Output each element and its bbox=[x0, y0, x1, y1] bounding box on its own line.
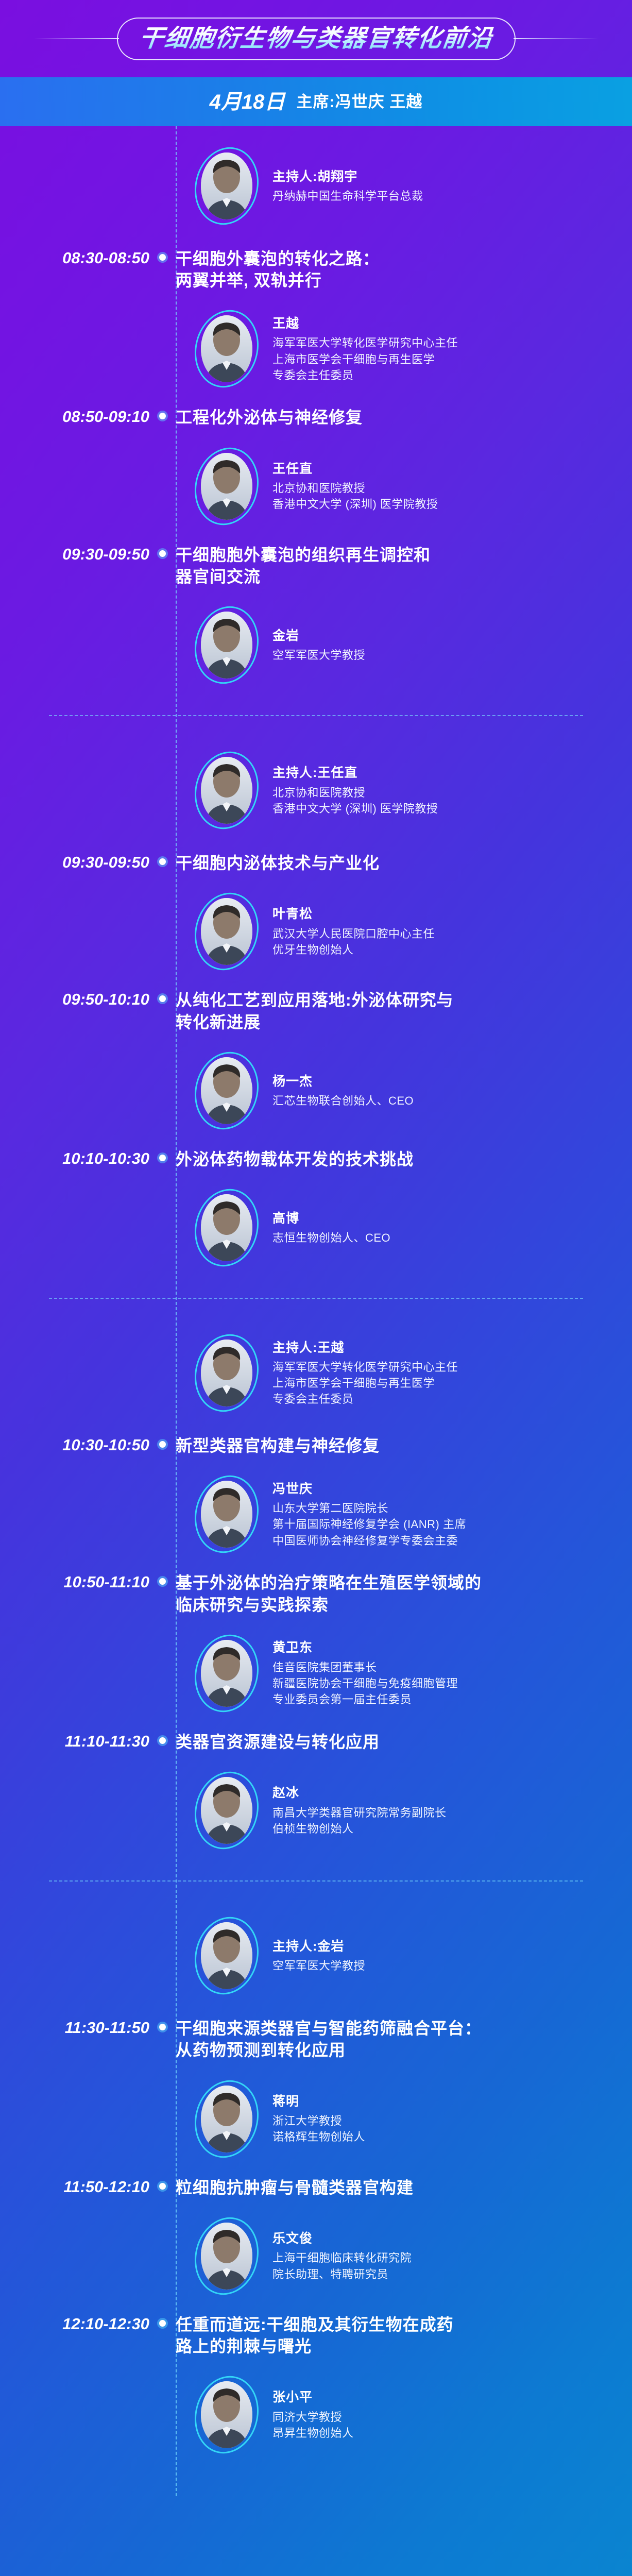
avatar bbox=[195, 1771, 258, 1850]
avatar bbox=[195, 147, 258, 225]
timeline-bullet-col bbox=[149, 1572, 176, 1585]
person-info: 主持人:王任直北京协和医院教授香港中文大学 (深圳) 医学院教授 bbox=[272, 764, 438, 817]
person-info: 主持人:王越海军军医大学转化医学研究中心主任上海市医学会干细胞与再生医学专委会主… bbox=[272, 1339, 458, 1408]
person-silhouette-icon bbox=[201, 1481, 252, 1548]
talk-title-line: 两翼并举, 双轨并行 bbox=[176, 269, 611, 291]
talk-title-line: 路上的荆棘与曙光 bbox=[176, 2335, 611, 2357]
talk-row: 09:50-10:10从纯化工艺到应用落地:外泌体研究与转化新进展 bbox=[0, 982, 632, 1040]
speaker-title: 佳音医院集团董事长 bbox=[272, 1659, 458, 1675]
speaker-name: 张小平 bbox=[272, 2388, 354, 2407]
talk-row: 10:30-10:50新型类器官构建与神经修复 bbox=[0, 1428, 632, 1464]
avatar-photo bbox=[201, 898, 252, 965]
title-wrap: 干细胞衍生物与类器官转化前沿 bbox=[0, 18, 632, 60]
speaker-title: 上海干细胞临床转化研究院 bbox=[272, 2250, 412, 2266]
talk-title-line: 干细胞来源类器官与智能药筛融合平台： bbox=[176, 2018, 611, 2039]
host-name: 主持人:王越 bbox=[272, 1339, 458, 1358]
talk-row: 08:50-09:10工程化外泌体与神经修复 bbox=[0, 399, 632, 435]
talk-title: 干细胞来源类器官与智能药筛融合平台：从药物预测到转化应用 bbox=[176, 2018, 632, 2061]
speaker-title: 香港中文大学 (深圳) 医学院教授 bbox=[272, 496, 438, 512]
timeline-dot-icon bbox=[159, 1737, 166, 1744]
speaker-title: 第十届国际神经修复学会 (IANR) 主席 bbox=[272, 1516, 466, 1532]
speaker-title: 新疆医院协会干细胞与免疫细胞管理 bbox=[272, 1675, 458, 1691]
talk-row: 11:50-12:10粒细胞抗肿瘤与骨髓类器官构建 bbox=[0, 2170, 632, 2206]
speaker-row: 金岩空军军医大学教授 bbox=[195, 595, 632, 696]
timeline-dot-icon bbox=[159, 550, 166, 557]
agenda-session: 主持人:王任直北京协和医院教授香港中文大学 (深圳) 医学院教授09:30-09… bbox=[0, 736, 632, 1278]
event-date: 4月18日 bbox=[210, 92, 285, 112]
talk-row: 12:10-12:30任重而道远:干细胞及其衍生物在成药路上的荆棘与曙光 bbox=[0, 2307, 632, 2364]
talk-title: 任重而道远:干细胞及其衍生物在成药路上的荆棘与曙光 bbox=[176, 2314, 632, 2357]
person-silhouette-icon bbox=[201, 2086, 252, 2153]
event-chairs: 主席:冯世庆 王越 bbox=[296, 94, 422, 110]
speaker-row: 张小平同济大学教授昂昇生物创始人 bbox=[195, 2364, 632, 2465]
speaker-name: 乐文俊 bbox=[272, 2230, 412, 2248]
talk-time: 10:50-11:10 bbox=[0, 1572, 149, 1593]
agenda-session: 主持人:胡翔宇丹纳赫中国生命科学平台总裁08:30-08:50干细胞外囊泡的转化… bbox=[0, 131, 632, 696]
avatar bbox=[195, 2217, 258, 2295]
avatar bbox=[195, 310, 258, 388]
talk-title-line: 器官间交流 bbox=[176, 566, 611, 587]
talk-time: 08:30-08:50 bbox=[0, 248, 149, 269]
person-silhouette-icon bbox=[201, 315, 252, 382]
speaker-row: 赵冰南昌大学类器官研究院常务副院长伯桢生物创始人 bbox=[195, 1760, 632, 1861]
agenda-session: 主持人:王越海军军医大学转化医学研究中心主任上海市医学会干细胞与再生医学专委会主… bbox=[0, 1318, 632, 1861]
session-host-row: 主持人:王越海军军医大学转化医学研究中心主任上海市医学会干细胞与再生医学专委会主… bbox=[195, 1318, 632, 1428]
speaker-row: 蒋明浙江大学教授诺格辉生物创始人 bbox=[195, 2069, 632, 2170]
talk-time: 11:50-12:10 bbox=[0, 2177, 149, 2198]
talk-title: 工程化外泌体与神经修复 bbox=[176, 406, 632, 428]
avatar bbox=[195, 1475, 258, 1553]
talk-title-line: 工程化外泌体与神经修复 bbox=[176, 406, 611, 428]
host-title: 丹纳赫中国生命科学平台总裁 bbox=[272, 188, 423, 204]
avatar bbox=[195, 1334, 258, 1412]
avatar bbox=[195, 1189, 258, 1267]
talk-time: 11:30-11:50 bbox=[0, 2018, 149, 2039]
speaker-title: 院长助理、特聘研究员 bbox=[272, 2266, 412, 2282]
talk-title-line: 临床研究与实践探索 bbox=[176, 1594, 611, 1616]
person-info: 高博志恒生物创始人、CEO bbox=[272, 1210, 390, 1246]
talk-title: 干细胞外囊泡的转化之路：两翼并举, 双轨并行 bbox=[176, 248, 632, 291]
avatar bbox=[195, 1634, 258, 1713]
speaker-title: 专业委员会第一届主任委员 bbox=[272, 1691, 458, 1707]
speaker-title: 汇芯生物联合创始人、CEO bbox=[272, 1093, 414, 1109]
talk-time: 10:30-10:50 bbox=[0, 1435, 149, 1456]
speaker-name: 王越 bbox=[272, 315, 458, 333]
speaker-title: 山东大学第二医院院长 bbox=[272, 1500, 466, 1516]
speaker-title: 志恒生物创始人、CEO bbox=[272, 1230, 390, 1246]
avatar-photo bbox=[201, 2086, 252, 2153]
host-title: 香港中文大学 (深圳) 医学院教授 bbox=[272, 801, 438, 817]
talk-title-line: 从纯化工艺到应用落地:外泌体研究与 bbox=[176, 989, 611, 1011]
talk-title-line: 干细胞外囊泡的转化之路： bbox=[176, 248, 611, 269]
person-silhouette-icon bbox=[201, 1194, 252, 1261]
speaker-title: 优牙生物创始人 bbox=[272, 942, 435, 958]
title-rule-left-icon bbox=[34, 38, 119, 39]
avatar-photo bbox=[201, 1057, 252, 1124]
session-host-row: 主持人:胡翔宇丹纳赫中国生命科学平台总裁 bbox=[195, 131, 632, 241]
speaker-row: 黄卫东佳音医院集团董事长新疆医院协会干细胞与免疫细胞管理专业委员会第一届主任委员 bbox=[195, 1623, 632, 1724]
avatar-photo bbox=[201, 612, 252, 679]
sessions-root: 主持人:胡翔宇丹纳赫中国生命科学平台总裁08:30-08:50干细胞外囊泡的转化… bbox=[0, 131, 632, 2465]
talk-time: 08:50-09:10 bbox=[0, 406, 149, 428]
talk-title: 粒细胞抗肿瘤与骨髓类器官构建 bbox=[176, 2177, 632, 2198]
person-info: 张小平同济大学教授昂昇生物创始人 bbox=[272, 2388, 354, 2441]
timeline-dot-icon bbox=[159, 1441, 166, 1448]
timeline-bullet-col bbox=[149, 248, 176, 261]
talk-title-line: 干细胞胞外囊泡的组织再生调控和 bbox=[176, 544, 611, 566]
talk-time: 09:50-10:10 bbox=[0, 989, 149, 1010]
timeline-dot-icon bbox=[159, 254, 166, 261]
person-silhouette-icon bbox=[201, 152, 252, 219]
poster-header: 干细胞衍生物与类器官转化前沿 bbox=[0, 0, 632, 77]
timeline-bullet-col bbox=[149, 544, 176, 557]
person-silhouette-icon bbox=[201, 2381, 252, 2448]
person-info: 黄卫东佳音医院集团董事长新疆医院协会干细胞与免疫细胞管理专业委员会第一届主任委员 bbox=[272, 1639, 458, 1707]
person-silhouette-icon bbox=[201, 1777, 252, 1844]
avatar bbox=[195, 751, 258, 829]
talk-time: 09:30-09:50 bbox=[0, 544, 149, 565]
session-host-row: 主持人:王任直北京协和医院教授香港中文大学 (深圳) 医学院教授 bbox=[195, 736, 632, 845]
timeline-bullet-col bbox=[149, 406, 176, 419]
title-rule-right-icon bbox=[514, 38, 599, 39]
host-title: 海军军医大学转化医学研究中心主任 bbox=[272, 1359, 458, 1375]
date-bar: 4月18日 主席:冯世庆 王越 bbox=[0, 77, 632, 126]
speaker-title: 上海市医学会干细胞与再生医学 bbox=[272, 351, 458, 367]
speaker-title: 中国医师协会神经修复学专委会主委 bbox=[272, 1533, 466, 1549]
person-silhouette-icon bbox=[201, 2223, 252, 2290]
person-info: 主持人:金岩空军军医大学教授 bbox=[272, 1938, 365, 1974]
avatar bbox=[195, 606, 258, 684]
person-info: 冯世庆山东大学第二医院院长第十届国际神经修复学会 (IANR) 主席中国医师协会… bbox=[272, 1480, 466, 1549]
person-silhouette-icon bbox=[201, 898, 252, 965]
talk-title-line: 从药物预测到转化应用 bbox=[176, 2039, 611, 2061]
timeline-bullet-col bbox=[149, 2314, 176, 2327]
talk-title: 新型类器官构建与神经修复 bbox=[176, 1435, 632, 1456]
session-divider bbox=[49, 715, 583, 716]
session-host-row: 主持人:金岩空军军医大学教授 bbox=[195, 1901, 632, 2010]
talk-title: 外泌体药物载体开发的技术挑战 bbox=[176, 1148, 632, 1170]
timeline-dot-icon bbox=[159, 1155, 166, 1161]
talk-time: 09:30-09:50 bbox=[0, 852, 149, 873]
avatar bbox=[195, 2080, 258, 2158]
timeline-bullet-col bbox=[149, 2018, 176, 2030]
avatar-photo bbox=[201, 1922, 252, 1989]
timeline-dot-icon bbox=[159, 413, 166, 419]
person-info: 王任直北京协和医院教授香港中文大学 (深圳) 医学院教授 bbox=[272, 460, 438, 513]
person-info: 叶青松武汉大学人民医院口腔中心主任优牙生物创始人 bbox=[272, 905, 435, 958]
timeline-bullet-col bbox=[149, 1731, 176, 1744]
timeline-dot-icon bbox=[159, 995, 166, 1002]
avatar-photo bbox=[201, 152, 252, 219]
avatar-photo bbox=[201, 2381, 252, 2448]
talk-title: 干细胞内泌体技术与产业化 bbox=[176, 852, 632, 874]
agenda-session: 主持人:金岩空军军医大学教授11:30-11:50干细胞来源类器官与智能药筛融合… bbox=[0, 1901, 632, 2465]
talk-title-line: 基于外泌体的治疗策略在生殖医学领域的 bbox=[176, 1572, 611, 1594]
host-title: 北京协和医院教授 bbox=[272, 785, 438, 801]
talk-title-line: 新型类器官构建与神经修复 bbox=[176, 1435, 611, 1456]
timeline-bullet-col bbox=[149, 1435, 176, 1448]
person-info: 蒋明浙江大学教授诺格辉生物创始人 bbox=[272, 2093, 365, 2145]
talk-title: 从纯化工艺到应用落地:外泌体研究与转化新进展 bbox=[176, 989, 632, 1032]
speaker-title: 武汉大学人民医院口腔中心主任 bbox=[272, 926, 435, 942]
speaker-title: 空军军医大学教授 bbox=[272, 647, 365, 663]
speaker-row: 叶青松武汉大学人民医院口腔中心主任优牙生物创始人 bbox=[195, 881, 632, 982]
session-divider bbox=[49, 1298, 583, 1299]
speaker-name: 冯世庆 bbox=[272, 1480, 466, 1499]
speaker-name: 杨一杰 bbox=[272, 1073, 414, 1091]
timeline-dot-icon bbox=[159, 2183, 166, 2190]
agenda-poster: 干细胞衍生物与类器官转化前沿 4月18日 主席:冯世庆 王越 主持人:胡翔宇丹纳… bbox=[0, 0, 632, 2576]
person-info: 乐文俊上海干细胞临床转化研究院院长助理、特聘研究员 bbox=[272, 2230, 412, 2282]
talk-title-line: 粒细胞抗肿瘤与骨髓类器官构建 bbox=[176, 2177, 611, 2198]
talk-row: 09:30-09:50干细胞内泌体技术与产业化 bbox=[0, 845, 632, 881]
person-silhouette-icon bbox=[201, 612, 252, 679]
speaker-title: 昂昇生物创始人 bbox=[272, 2425, 354, 2441]
avatar-photo bbox=[201, 1481, 252, 1548]
host-title: 空军军医大学教授 bbox=[272, 1958, 365, 1974]
speaker-name: 金岩 bbox=[272, 627, 365, 646]
agenda-body: 主持人:胡翔宇丹纳赫中国生命科学平台总裁08:30-08:50干细胞外囊泡的转化… bbox=[0, 126, 632, 2496]
avatar bbox=[195, 2376, 258, 2454]
speaker-title: 伯桢生物创始人 bbox=[272, 1821, 447, 1837]
avatar bbox=[195, 1052, 258, 1130]
title-pill: 干细胞衍生物与类器官转化前沿 bbox=[117, 18, 516, 60]
person-info: 主持人:胡翔宇丹纳赫中国生命科学平台总裁 bbox=[272, 168, 423, 205]
talk-row: 11:10-11:30类器官资源建设与转化应用 bbox=[0, 1724, 632, 1760]
talk-title: 干细胞胞外囊泡的组织再生调控和器官间交流 bbox=[176, 544, 632, 587]
timeline-bullet-col bbox=[149, 852, 176, 865]
speaker-name: 高博 bbox=[272, 1210, 390, 1228]
avatar-photo bbox=[201, 453, 252, 520]
person-info: 金岩空军军医大学教授 bbox=[272, 627, 365, 664]
avatar-photo bbox=[201, 1194, 252, 1261]
timeline-dot-icon bbox=[159, 858, 166, 865]
talk-row: 10:50-11:10基于外泌体的治疗策略在生殖医学领域的临床研究与实践探索 bbox=[0, 1565, 632, 1622]
page-title: 干细胞衍生物与类器官转化前沿 bbox=[138, 26, 494, 50]
timeline-dot-icon bbox=[159, 2024, 166, 2030]
person-info: 赵冰南昌大学类器官研究院常务副院长伯桢生物创始人 bbox=[272, 1784, 447, 1837]
talk-title-line: 干细胞内泌体技术与产业化 bbox=[176, 852, 611, 874]
person-silhouette-icon bbox=[201, 1340, 252, 1406]
talk-time: 12:10-12:30 bbox=[0, 2314, 149, 2335]
session-divider bbox=[49, 1880, 583, 1882]
talk-row: 10:10-10:30外泌体药物载体开发的技术挑战 bbox=[0, 1141, 632, 1177]
avatar bbox=[195, 1917, 258, 1995]
speaker-title: 海军军医大学转化医学研究中心主任 bbox=[272, 335, 458, 351]
person-silhouette-icon bbox=[201, 1057, 252, 1124]
speaker-title: 专委会主任委员 bbox=[272, 367, 458, 383]
talk-title-line: 外泌体药物载体开发的技术挑战 bbox=[176, 1148, 611, 1170]
host-name: 主持人:胡翔宇 bbox=[272, 168, 423, 187]
host-name: 主持人:金岩 bbox=[272, 1938, 365, 1956]
timeline-dot-icon bbox=[159, 1578, 166, 1585]
speaker-title: 同济大学教授 bbox=[272, 2409, 354, 2425]
talk-row: 08:30-08:50干细胞外囊泡的转化之路：两翼并举, 双轨并行 bbox=[0, 241, 632, 298]
speaker-name: 黄卫东 bbox=[272, 1639, 458, 1657]
talk-title-line: 类器官资源建设与转化应用 bbox=[176, 1731, 611, 1753]
timeline-dot-icon bbox=[159, 2320, 166, 2327]
speaker-row: 高博志恒生物创始人、CEO bbox=[195, 1177, 632, 1278]
speaker-title: 浙江大学教授 bbox=[272, 2113, 365, 2129]
speaker-row: 杨一杰汇芯生物联合创始人、CEO bbox=[195, 1040, 632, 1141]
speaker-row: 王任直北京协和医院教授香港中文大学 (深圳) 医学院教授 bbox=[195, 436, 632, 537]
person-silhouette-icon bbox=[201, 757, 252, 824]
talk-time: 11:10-11:30 bbox=[0, 1731, 149, 1752]
speaker-row: 王越海军军医大学转化医学研究中心主任上海市医学会干细胞与再生医学专委会主任委员 bbox=[195, 298, 632, 399]
avatar-photo bbox=[201, 1777, 252, 1844]
person-info: 杨一杰汇芯生物联合创始人、CEO bbox=[272, 1073, 414, 1109]
speaker-name: 王任直 bbox=[272, 460, 438, 479]
avatar-photo bbox=[201, 1640, 252, 1707]
timeline-bullet-col bbox=[149, 2177, 176, 2190]
person-info: 王越海军军医大学转化医学研究中心主任上海市医学会干细胞与再生医学专委会主任委员 bbox=[272, 315, 458, 383]
host-title: 专委会主任委员 bbox=[272, 1391, 458, 1407]
person-silhouette-icon bbox=[201, 1640, 252, 1707]
speaker-title: 南昌大学类器官研究院常务副院长 bbox=[272, 1805, 447, 1821]
talk-time: 10:10-10:30 bbox=[0, 1148, 149, 1170]
talk-title-line: 任重而道远:干细胞及其衍生物在成药 bbox=[176, 2314, 611, 2335]
host-name: 主持人:王任直 bbox=[272, 764, 438, 783]
speaker-name: 蒋明 bbox=[272, 2093, 365, 2111]
speaker-title: 诺格辉生物创始人 bbox=[272, 2129, 365, 2145]
timeline-bullet-col bbox=[149, 1148, 176, 1161]
speaker-name: 赵冰 bbox=[272, 1784, 447, 1803]
host-title: 上海市医学会干细胞与再生医学 bbox=[272, 1375, 458, 1391]
speaker-title: 北京协和医院教授 bbox=[272, 480, 438, 496]
avatar-photo bbox=[201, 2223, 252, 2290]
avatar-photo bbox=[201, 757, 252, 824]
talk-title: 基于外泌体的治疗策略在生殖医学领域的临床研究与实践探索 bbox=[176, 1572, 632, 1615]
avatar-photo bbox=[201, 315, 252, 382]
timeline-bullet-col bbox=[149, 989, 176, 1002]
talk-title: 类器官资源建设与转化应用 bbox=[176, 1731, 632, 1753]
speaker-row: 乐文俊上海干细胞临床转化研究院院长助理、特聘研究员 bbox=[195, 2206, 632, 2307]
talk-row: 11:30-11:50干细胞来源类器官与智能药筛融合平台：从药物预测到转化应用 bbox=[0, 2010, 632, 2068]
speaker-row: 冯世庆山东大学第二医院院长第十届国际神经修复学会 (IANR) 主席中国医师协会… bbox=[195, 1464, 632, 1565]
talk-title-line: 转化新进展 bbox=[176, 1011, 611, 1033]
person-silhouette-icon bbox=[201, 1922, 252, 1989]
person-silhouette-icon bbox=[201, 453, 252, 520]
avatar bbox=[195, 447, 258, 526]
talk-row: 09:30-09:50干细胞胞外囊泡的组织再生调控和器官间交流 bbox=[0, 537, 632, 595]
speaker-name: 叶青松 bbox=[272, 905, 435, 924]
avatar-photo bbox=[201, 1340, 252, 1406]
avatar bbox=[195, 892, 258, 971]
